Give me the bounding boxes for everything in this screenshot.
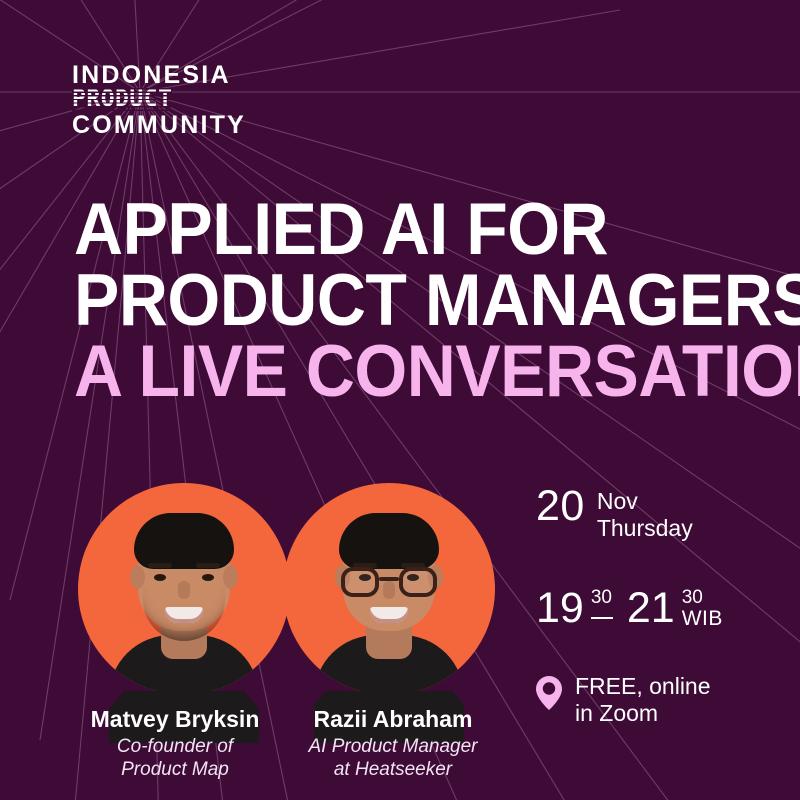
- time-end-hour: 21: [627, 588, 675, 629]
- speaker-2-role: AI Product Manager at Heatseeker: [218, 735, 568, 781]
- event-details: 20 Nov Thursday 19 30 21 30 WIB: [536, 486, 723, 728]
- event-poster: INDONESIA PRODUCT COMMUNITY APPLIED AI F…: [0, 0, 800, 800]
- speaker-2-role-line-2: at Heatseeker: [218, 758, 568, 781]
- logo-line-community: COMMUNITY: [72, 112, 246, 138]
- page-title: APPLIED AI FOR PRODUCT MANAGERS: A LIVE …: [74, 196, 754, 405]
- location-line-1: FREE, online: [575, 673, 711, 701]
- location-pin-icon: [536, 676, 562, 710]
- speaker-photo-2: [283, 483, 495, 695]
- logo-pixel-wrapper: PRODUCT: [72, 88, 172, 112]
- time-start-minute-block: 30: [591, 588, 613, 619]
- time-zone: WIB: [682, 608, 723, 631]
- location-text: FREE, online in Zoom: [575, 673, 711, 728]
- headline-line-1: APPLIED AI FOR: [74, 196, 706, 263]
- brand-logo: INDONESIA PRODUCT COMMUNITY: [72, 62, 246, 138]
- event-time: 19 30 21 30 WIB: [536, 588, 723, 631]
- logo-line-indonesia: INDONESIA: [72, 62, 246, 88]
- date-words: Nov Thursday: [597, 486, 693, 542]
- time-end-minute: 30: [682, 588, 703, 608]
- speaker-photo-1: [78, 483, 290, 695]
- time-range-dash: [591, 617, 613, 619]
- speaker-photo-2-clip: [283, 483, 495, 695]
- date-day: 20: [536, 486, 585, 527]
- date-weekday: Thursday: [597, 515, 693, 542]
- speaker-2-name: Razii Abraham: [218, 706, 568, 733]
- avatar: [283, 483, 495, 695]
- event-location: FREE, online in Zoom: [536, 673, 723, 728]
- time-end-minute-block: 30 WIB: [682, 588, 723, 631]
- time-start-minute: 30: [591, 588, 612, 608]
- location-line-2: in Zoom: [575, 700, 711, 728]
- headline-line-2: PRODUCT MANAGERS:: [74, 267, 706, 334]
- speaker-photo-1-clip: [78, 483, 290, 695]
- date-month: Nov: [597, 488, 693, 515]
- time-start-hour: 19: [536, 588, 584, 629]
- avatar: [78, 483, 290, 695]
- event-date: 20 Nov Thursday: [536, 486, 723, 542]
- logo-line-product: PRODUCT: [72, 88, 172, 112]
- headline-line-3: A LIVE CONVERSATION: [74, 338, 706, 405]
- speaker-2-role-line-1: AI Product Manager: [218, 735, 568, 758]
- glasses-icon: [341, 567, 437, 597]
